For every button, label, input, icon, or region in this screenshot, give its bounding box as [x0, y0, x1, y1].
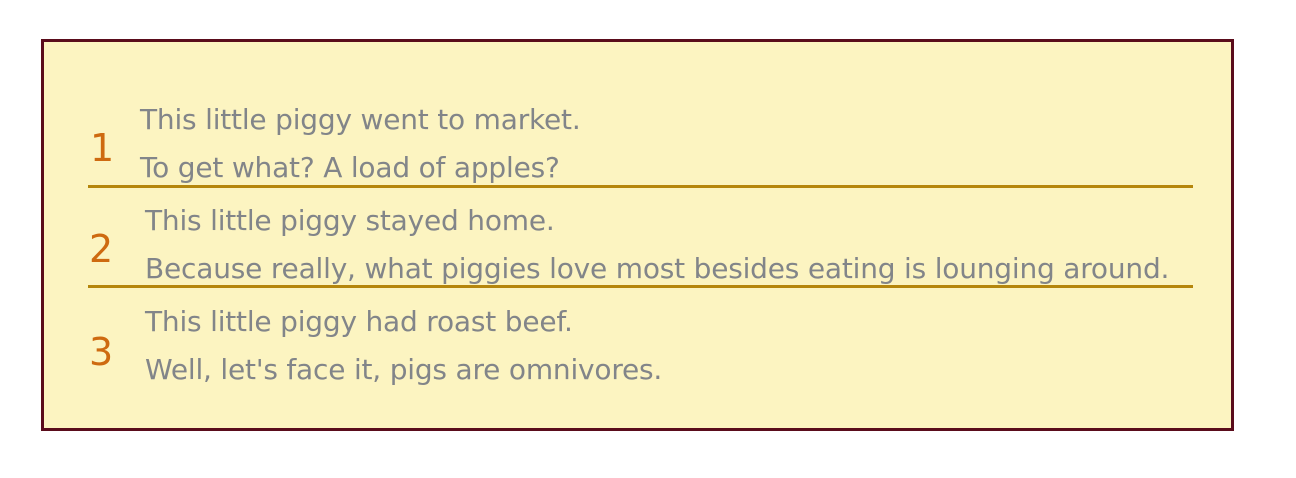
list-item-number: 3: [89, 333, 137, 371]
list-item[interactable]: 3 This little piggy had roast beef. Well…: [44, 294, 1231, 398]
list-divider: [88, 285, 1193, 288]
list-item-text: This little piggy had roast beef. Well, …: [136, 298, 1231, 394]
list-item-text: This little piggy went to market. To get…: [136, 96, 1231, 192]
list-divider: [88, 185, 1193, 188]
page-canvas: 1 This little piggy went to market. To g…: [0, 0, 1296, 478]
numbered-list: 1 This little piggy went to market. To g…: [44, 42, 1231, 398]
list-item-line-secondary: Well, let's face it, pigs are omnivores.: [145, 346, 1231, 394]
list-item-line-primary: This little piggy went to market.: [140, 96, 1231, 144]
list-item[interactable]: 2 This little piggy stayed home. Because…: [44, 196, 1231, 294]
list-item-line-primary: This little piggy had roast beef.: [145, 298, 1231, 346]
list-item-number: 1: [90, 129, 138, 167]
list-item[interactable]: 1 This little piggy went to market. To g…: [44, 92, 1231, 196]
list-item-text: This little piggy stayed home. Because r…: [136, 197, 1231, 293]
list-item-line-primary: This little piggy stayed home.: [145, 197, 1231, 245]
list-item-number: 2: [89, 230, 137, 268]
numbered-list-panel: 1 This little piggy went to market. To g…: [41, 39, 1234, 431]
